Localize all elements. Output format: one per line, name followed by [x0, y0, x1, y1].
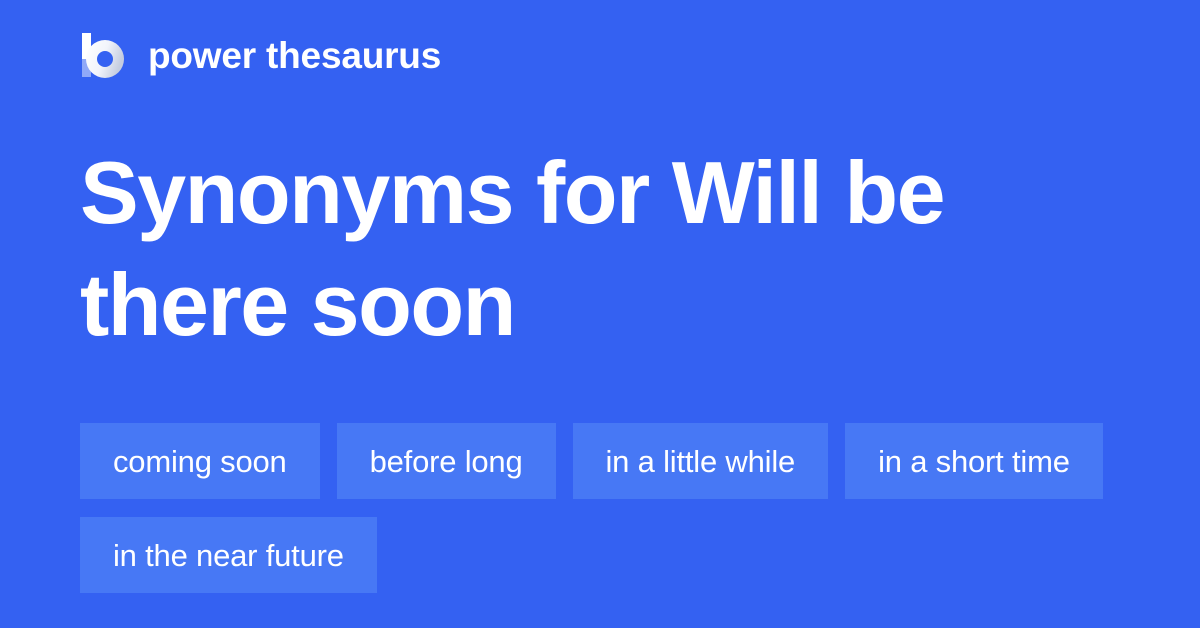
brand-logo[interactable]: power thesaurus: [80, 28, 441, 82]
synonym-chip[interactable]: before long: [337, 423, 556, 499]
page-title: Synonyms for Will be there soon: [80, 137, 980, 361]
synonym-chip-list: coming soon before long in a little whil…: [80, 423, 1140, 593]
synonym-chip[interactable]: coming soon: [80, 423, 320, 499]
brand-name: power thesaurus: [148, 37, 441, 74]
synonym-chip[interactable]: in a little while: [573, 423, 829, 499]
synonym-chip[interactable]: in the near future: [80, 517, 377, 593]
power-thesaurus-b-logo-icon: [80, 31, 126, 79]
synonym-chip[interactable]: in a short time: [845, 423, 1103, 499]
og-card: power thesaurus Synonyms for Will be the…: [0, 0, 1200, 628]
